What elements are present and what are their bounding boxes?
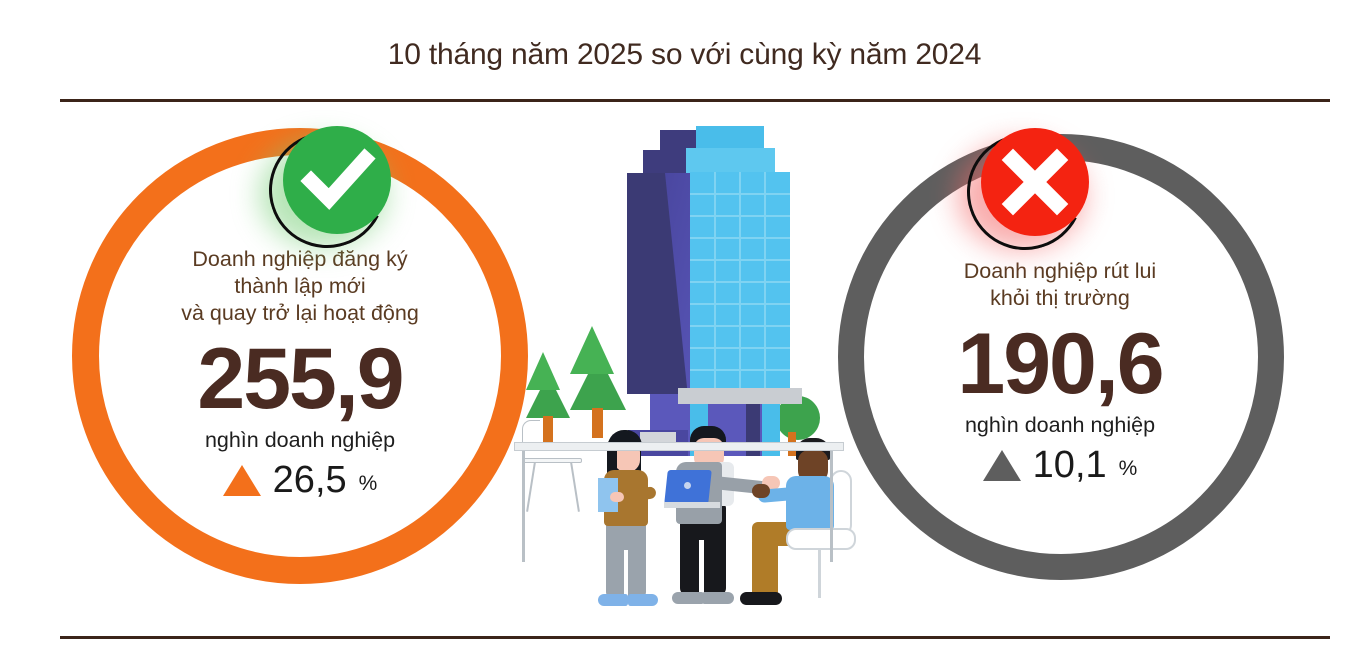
empty-chair-leg [526,462,536,512]
empty-chair-seat [522,458,582,463]
building-awning [678,388,802,404]
man-standing-shoe [672,592,704,604]
meeting-table [514,442,844,451]
triangle-up-icon [223,465,261,496]
office-chair-seat [786,528,856,550]
triangle-up-icon [983,450,1021,481]
stat-delta-suffix-left: % [359,472,378,499]
office-chair-leg [818,548,821,598]
man-standing-leg-gap [699,540,704,596]
check-badge [277,126,397,246]
stat-card-market-exits-content: Doanh nghiệp rút lui khỏi thị trường 190… [895,258,1225,484]
table-leg [830,450,833,562]
stat-unit-left: nghìn doanh nghiệp [135,427,465,453]
man-seated-shirt [786,476,834,530]
building-glass-facade [690,172,790,394]
woman-shoe [598,594,628,606]
stat-delta-right: 10,1 % [895,446,1225,484]
tree-trunk [543,416,553,442]
building-glass-cap-lower [686,148,775,174]
tree-trunk [592,408,603,438]
stat-delta-left: 26,5 % [135,461,465,499]
building-window-grid [690,172,790,394]
pine-tree-icon [526,352,560,390]
stat-value-right: 190,6 [895,318,1225,410]
divider-top [60,99,1330,102]
stat-caption-left: Doanh nghiệp đăng ký thành lập mới và qu… [135,246,465,327]
man-seated-hand [752,484,770,498]
man-standing-shoe [702,592,734,604]
stat-card-new-registrations-content: Doanh nghiệp đăng ký thành lập mới và qu… [135,246,465,499]
stat-caption-right: Doanh nghiệp rút lui khỏi thị trường [895,258,1225,312]
woman-arm [627,486,656,502]
laptop-base [664,502,720,508]
check-circle-icon [283,126,391,234]
cross-circle-icon [981,128,1089,236]
cross-badge [975,128,1095,248]
laptop-logo [684,482,691,489]
stat-unit-right: nghìn doanh nghiệp [895,412,1225,438]
woman-leg-gap [624,550,628,598]
woman-hand [610,492,624,502]
table-leg [522,450,525,562]
stat-delta-value-left: 26,5 [273,461,347,499]
office-building-illustration [500,110,870,600]
man-seated-shoe [740,592,782,605]
woman-shoe [628,594,658,606]
stat-delta-value-right: 10,1 [1033,446,1107,484]
pine-tree-icon [570,326,614,374]
page-title: 10 tháng năm 2025 so với cùng kỳ năm 202… [0,38,1369,72]
building-glass-cap [696,126,764,150]
man-seated-shin [752,538,778,596]
empty-chair-leg [570,462,580,512]
divider-bottom [60,636,1330,639]
stat-delta-suffix-right: % [1119,457,1138,484]
stat-value-left: 255,9 [135,333,465,425]
